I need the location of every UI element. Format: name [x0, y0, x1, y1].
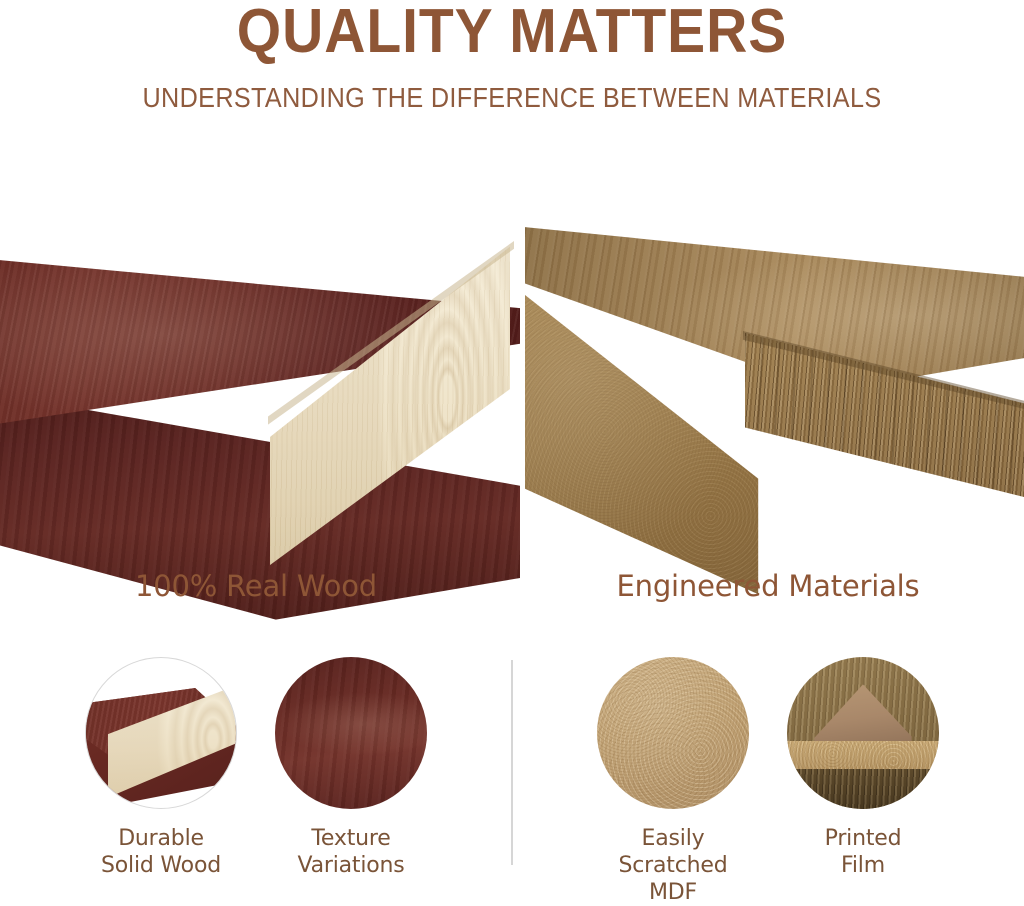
swatch-caption: Printed Film: [825, 825, 902, 879]
swatch-caption: Durable Solid Wood: [101, 825, 221, 879]
board-lower-grain: [787, 769, 939, 809]
swatch-item[interactable]: Easily Scratched MDF: [592, 657, 754, 906]
swatch-caption: Texture Variations: [297, 825, 404, 879]
column-heading-engineered: Engineered Materials: [512, 565, 1024, 607]
swatch-caption: Easily Scratched MDF: [592, 825, 754, 906]
peeling-printed-film-icon: [787, 657, 939, 809]
column-real-wood: 100% Real Wood Durable Solid Wood Textur…: [0, 565, 512, 900]
cherry-grain-swatch-icon: [275, 657, 427, 809]
swatch-item[interactable]: Durable Solid Wood: [80, 657, 242, 879]
swatch-list-real-wood: Durable Solid Wood Texture Variations: [0, 657, 512, 900]
swatch-item[interactable]: Texture Variations: [270, 657, 432, 879]
mdf-particle-texture: [597, 657, 749, 809]
solid-wood-shelf-icon: [85, 657, 237, 809]
column-engineered-materials: Engineered Materials Easily Scratched MD…: [512, 565, 1024, 900]
comparison-section: 100% Real Wood Durable Solid Wood Textur…: [0, 565, 1024, 900]
header: QUALITY MATTERS UNDERSTANDING THE DIFFER…: [0, 0, 1024, 130]
swatch-item[interactable]: Printed Film: [782, 657, 944, 879]
swatch-list-engineered: Easily Scratched MDF Printed Film: [512, 657, 1024, 900]
mdf-particle-swatch-icon: [597, 657, 749, 809]
page-title: QUALITY MATTERS: [41, 0, 983, 66]
page-subtitle: UNDERSTANDING THE DIFFERENCE BETWEEN MAT…: [51, 82, 973, 114]
column-heading-real-wood: 100% Real Wood: [0, 565, 512, 607]
hero-image-stage: [0, 155, 1024, 505]
cherry-grain-texture: [275, 657, 427, 809]
